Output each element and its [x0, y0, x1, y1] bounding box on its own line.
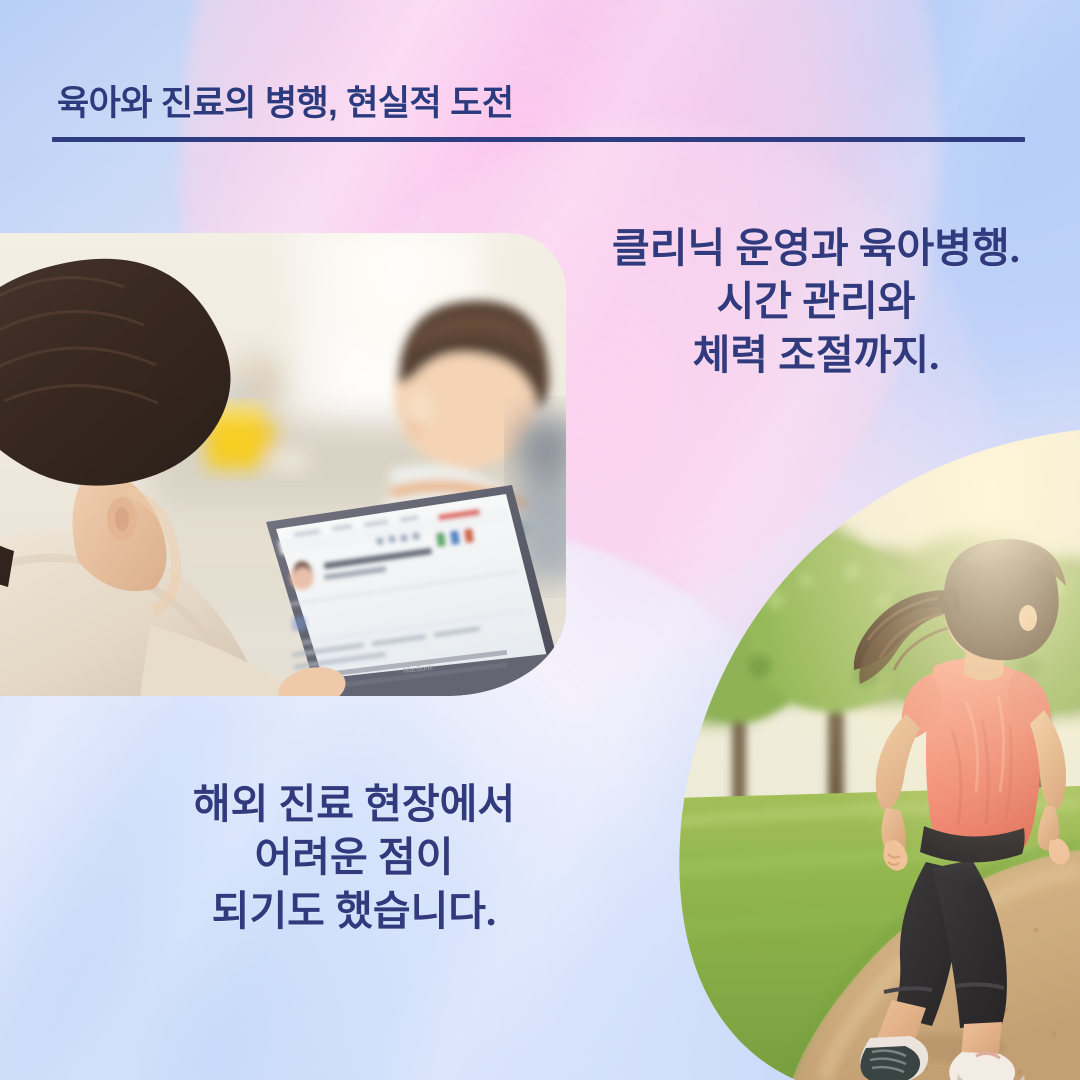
quote-right: 클리닉 운영과 육아병행. 시간 관리와 체력 조절까지. [556, 222, 1076, 382]
quote-left: 해외 진료 현장에서 어려운 점이 되기도 했습니다. [74, 778, 634, 938]
photo-woman-jogging [676, 430, 1080, 1080]
title-divider [52, 137, 1025, 142]
page-title: 육아와 진료의 병행, 현실적 도전 [57, 75, 513, 126]
social-card: MacBook [0, 0, 1080, 1080]
photo-mother-laptop: MacBook [0, 233, 566, 696]
